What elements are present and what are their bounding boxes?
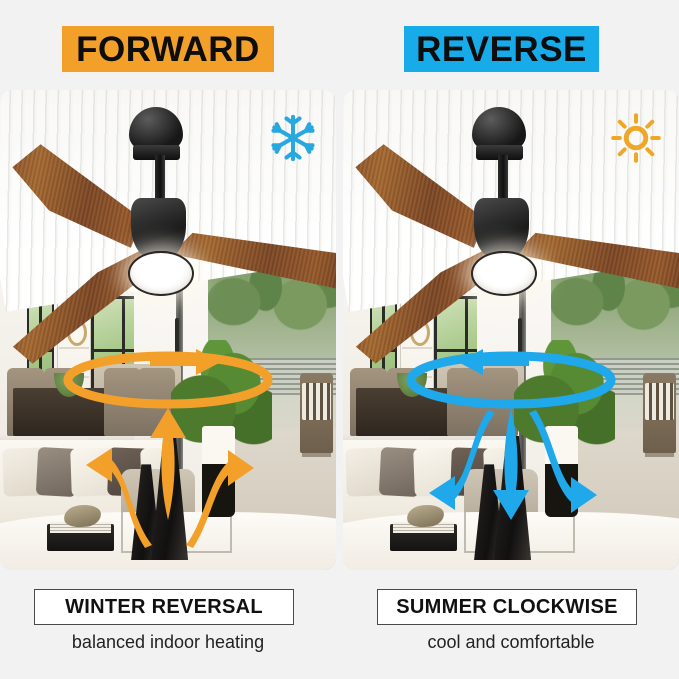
caption-subtitle-summer: cool and comfortable [427,632,594,653]
caption-subtitle-winter-wrap: balanced indoor heating [0,629,336,655]
fan-downrod [155,155,165,203]
badge-forward: FORWARD [62,26,274,72]
fan-downrod [498,155,508,203]
infographic-stage: FORWARD REVERSE [0,0,679,679]
snowflake-icon [267,112,319,164]
room-scene-reverse [343,90,679,570]
caption-box-summer: SUMMER CLOCKWISE [377,589,637,625]
panel-reverse [343,90,679,570]
fan-light-kit [128,251,194,296]
fan-canopy [472,107,526,150]
panel-forward [0,90,336,570]
caption-title-summer: SUMMER CLOCKWISE [396,596,617,619]
fan-canopy [129,107,183,150]
badge-reverse-label: REVERSE [416,32,587,67]
badge-reverse: REVERSE [404,26,599,72]
caption-subtitle-winter: balanced indoor heating [72,632,264,653]
caption-title-winter: WINTER REVERSAL [65,596,263,619]
room-scene-forward [0,90,336,570]
caption-box-winter: WINTER REVERSAL [34,589,294,625]
caption-subtitle-summer-wrap: cool and comfortable [343,629,679,655]
fan-light-kit [471,251,537,296]
badge-forward-label: FORWARD [76,32,260,67]
sun-icon [610,112,662,164]
